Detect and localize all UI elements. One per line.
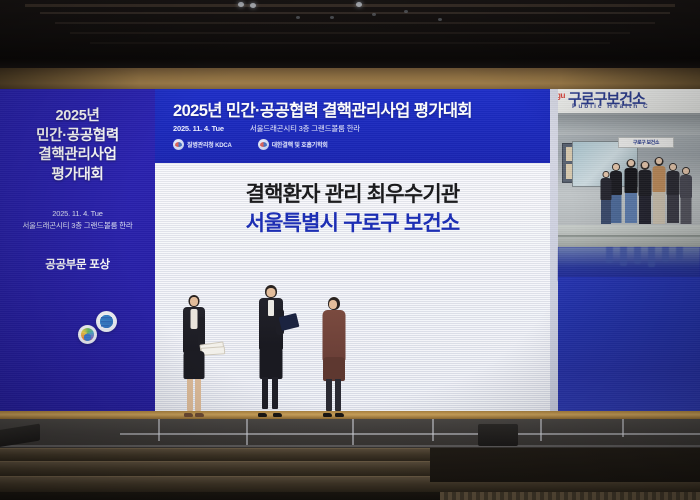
ceiling-rail: [55, 22, 655, 24]
ceiling-rail: [90, 42, 610, 44]
floor-tape-line: [0, 445, 700, 447]
floor-tape-line: [120, 433, 700, 435]
group-person: [680, 167, 692, 229]
group-person: [638, 161, 651, 229]
sign-english-text: Public Health C: [572, 103, 650, 110]
poster-venue: 서울드래곤시티 3층 그랜드볼룸 한라: [2, 220, 153, 232]
poster-award-section: 공공부문 포상: [4, 256, 151, 272]
ceiling-light-icon: [438, 18, 442, 21]
ceiling: [0, 0, 700, 58]
panel-blue-fill: [558, 277, 700, 411]
stage-front-edge: [0, 411, 700, 419]
group-person: [624, 159, 637, 229]
panel-gutter: [550, 89, 558, 411]
poster-title-line: 민간·공공협력: [6, 127, 149, 147]
floor-tape-line: [432, 419, 434, 441]
ceiling-rail: [40, 12, 670, 14]
building-sign: ᵍᵘ 구로구보건소 Public Health C: [558, 89, 700, 115]
group-person: [652, 157, 665, 229]
floor-tape-line: [158, 419, 160, 441]
ceiling-light-icon: [356, 2, 362, 7]
ceiling-light-icon: [238, 2, 244, 7]
recipient-woman: [322, 297, 346, 417]
guro-logo-icon: ᵍᵘ: [558, 90, 565, 104]
inner-sign: 구로구 보건소: [618, 137, 674, 148]
ceiling-light-icon: [404, 10, 408, 13]
slide-header-bar: 2025년 민간·공공협력 결핵관리사업 평가대회 2025. 11. 4. T…: [155, 89, 550, 163]
ceremony-photo-scene: 2025년 민간·공공협력 결핵관리사업 평가대회 2025. 11. 4. T…: [0, 0, 700, 500]
blue-circle-emblem-icon: [96, 311, 117, 332]
ceiling-lip: [0, 58, 700, 68]
floor-tape-line: [352, 419, 354, 445]
slide-venue: 서울드래곤시티 3층 그랜드볼룸 한라: [250, 123, 360, 134]
stage-monitor-speaker-left: [0, 424, 40, 448]
ceiling-rail: [70, 32, 630, 34]
poster-title-line: 2025년: [6, 107, 149, 127]
society-emblem-icon: [258, 139, 269, 150]
stage-steps: [0, 448, 700, 500]
floor-tape-line: [540, 419, 542, 441]
government-emblem-icon: [173, 139, 184, 150]
building-awning: [558, 115, 700, 135]
organizer-logo: 대한결핵 및 호흡기학회: [258, 139, 328, 150]
poster-subinfo: 2025. 11. 4. Tue 서울드래곤시티 3층 그랜드볼룸 한라: [2, 208, 153, 232]
floor-tape-line: [622, 419, 624, 437]
ceiling-light-icon: [372, 13, 376, 16]
building-facade: 구로구 보건소: [558, 115, 700, 247]
ceiling-light-icon: [250, 3, 256, 8]
stage-skirt: [430, 448, 700, 482]
ceiling-light-icon: [330, 16, 334, 19]
wood-trim-band: [0, 68, 700, 90]
ceiling-light-icon: [296, 16, 300, 19]
award-recipient: 서울특별시 구로구 보건소: [155, 210, 550, 237]
colorful-circle-emblem-icon: [78, 325, 97, 344]
presentation-slide: 2025년 민간·공공협력 결핵관리사업 평가대회 2025. 11. 4. T…: [155, 89, 550, 411]
award-category: 결핵환자 관리 최우수기관: [155, 181, 550, 208]
poster-title-line: 평가대회: [6, 166, 149, 186]
led-video-wall: 2025년 민간·공공협력 결핵관리사업 평가대회 2025. 11. 4. T…: [0, 89, 700, 411]
poster-title-line: 결핵관리사업: [6, 146, 149, 166]
photo-reflection: [558, 247, 700, 281]
organizer-logo: 질병관리청 KDCA: [173, 139, 232, 150]
slide-organizer-logos: 질병관리청 KDCA 대한결핵 및 호흡기학회: [173, 139, 328, 150]
award-announcement: 결핵환자 관리 최우수기관 서울특별시 구로구 보건소: [155, 181, 550, 238]
left-event-poster: 2025년 민간·공공협력 결핵관리사업 평가대회 2025. 11. 4. T…: [0, 89, 155, 411]
right-photo-panel: ᵍᵘ 구로구보건소 Public Health C 구로구 보건소: [550, 89, 700, 411]
stage-monitor-speaker-right: [478, 424, 518, 446]
health-center-group-photo: ᵍᵘ 구로구보건소 Public Health C 구로구 보건소: [558, 89, 700, 247]
group-person: [600, 171, 611, 229]
entrance-steps: [558, 225, 700, 247]
organizer-name: 질병관리청 KDCA: [187, 140, 232, 149]
group-person: [610, 163, 622, 229]
poster-title: 2025년 민간·공공협력 결핵관리사업 평가대회: [6, 107, 149, 186]
presenter-woman: [182, 295, 206, 417]
slide-date: 2025. 11. 4. Tue: [173, 124, 224, 133]
organizer-name: 대한결핵 및 호흡기학회: [272, 140, 328, 149]
mc-man: [258, 285, 284, 417]
group-person: [666, 163, 679, 229]
poster-date: 2025. 11. 4. Tue: [2, 208, 153, 220]
floor-grate-shadow: [0, 492, 440, 500]
slide-meta: 2025. 11. 4. Tue 서울드래곤시티 3층 그랜드볼룸 한라: [173, 123, 360, 134]
slide-title: 2025년 민간·공공협력 결핵관리사업 평가대회: [173, 97, 540, 121]
ceiling-rail: [25, 4, 675, 7]
slide-content-area: 결핵환자 관리 최우수기관 서울특별시 구로구 보건소: [155, 163, 550, 411]
floor-tape-line: [246, 419, 248, 445]
